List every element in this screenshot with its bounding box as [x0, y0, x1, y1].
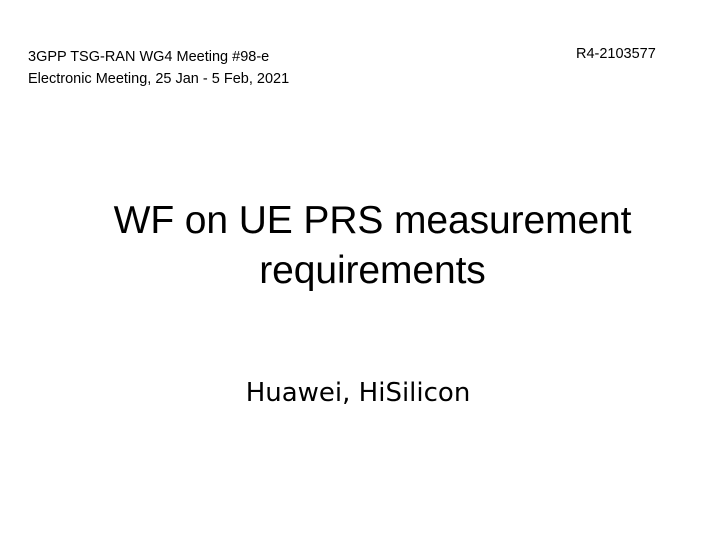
- title-block: WF on UE PRS measurement requirements: [60, 196, 685, 296]
- slide-title-line-2: requirements: [259, 249, 485, 292]
- document-number: R4-2103577: [576, 44, 656, 64]
- meeting-header-line-2: Electronic Meeting, 25 Jan - 5 Feb, 2021: [28, 68, 448, 90]
- slide-title: WF on UE PRS measurement requirements: [60, 196, 685, 296]
- meeting-header: 3GPP TSG-RAN WG4 Meeting #98-e Electroni…: [28, 46, 448, 90]
- subtitle-block: Huawei, HiSilicon: [48, 376, 668, 410]
- slide-title-line-1: WF on UE PRS measurement: [114, 199, 632, 242]
- author-affiliation: Huawei, HiSilicon: [48, 376, 668, 410]
- presentation-slide: 3GPP TSG-RAN WG4 Meeting #98-e Electroni…: [0, 0, 720, 540]
- meeting-header-line-1: 3GPP TSG-RAN WG4 Meeting #98-e: [28, 46, 448, 68]
